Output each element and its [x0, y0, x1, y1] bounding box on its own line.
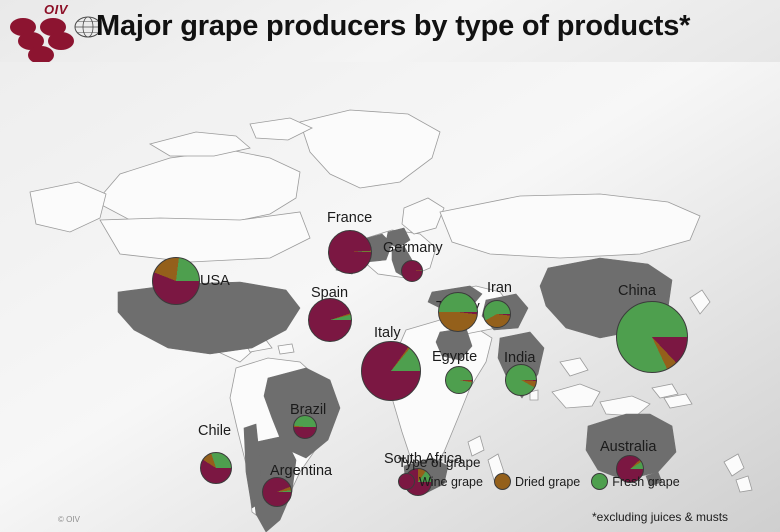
infographic-root: OIV Major grape producers by type of pro… — [0, 0, 780, 532]
legend-label: Wine grape — [419, 475, 483, 489]
oiv-grape-logo: OIV — [4, 2, 104, 58]
legend-item-wine-grape: Wine grape — [398, 473, 483, 490]
legend-title: Type of grape — [398, 455, 698, 470]
copyright-notice: © OIV — [58, 515, 80, 524]
pie-china — [616, 301, 688, 373]
pie-chile — [200, 452, 232, 484]
legend-item-dried-grape: Dried grape — [494, 473, 580, 490]
legend-label: Fresh grape — [612, 475, 679, 489]
pie-france — [328, 230, 372, 274]
map-label-germany: Germany — [383, 241, 443, 255]
pie-usa — [152, 257, 200, 305]
pie-argentina — [262, 477, 292, 507]
pie-egypte — [445, 366, 473, 394]
legend: Type of grape Wine grapeDried grapeFresh… — [398, 455, 698, 490]
pie-india — [505, 364, 537, 396]
legend-item-fresh-grape: Fresh grape — [591, 473, 679, 490]
pie-italy — [361, 341, 421, 401]
pie-iran — [483, 300, 511, 328]
legend-label: Dried grape — [515, 475, 580, 489]
map-label-france: France — [327, 211, 372, 225]
map-label-usa: USA — [200, 274, 230, 288]
pie-spain — [308, 298, 352, 342]
map-label-chile: Chile — [198, 424, 231, 438]
legend-items: Wine grapeDried grapeFresh grape — [398, 473, 698, 490]
page-title: Major grape producers by type of product… — [96, 8, 780, 44]
map-label-egypte: Egypte — [432, 350, 477, 364]
pie-brazil — [293, 415, 317, 439]
pie-turkey — [438, 292, 478, 332]
map-label-china: China — [618, 284, 656, 298]
pie-germany — [401, 260, 423, 282]
map-label-italy: Italy — [374, 326, 401, 340]
oiv-logo-text: OIV — [44, 2, 68, 17]
map-label-iran: Iran — [487, 281, 512, 295]
legend-swatch-dried-grape — [494, 473, 511, 490]
map-label-argentina: Argentina — [270, 464, 332, 478]
grape-berry — [48, 32, 74, 50]
footnote: *excluding juices & musts — [592, 510, 728, 524]
map-label-india: India — [504, 351, 535, 365]
map-label-australia: Australia — [600, 440, 656, 454]
legend-swatch-fresh-grape — [591, 473, 608, 490]
legend-swatch-wine-grape — [398, 473, 415, 490]
